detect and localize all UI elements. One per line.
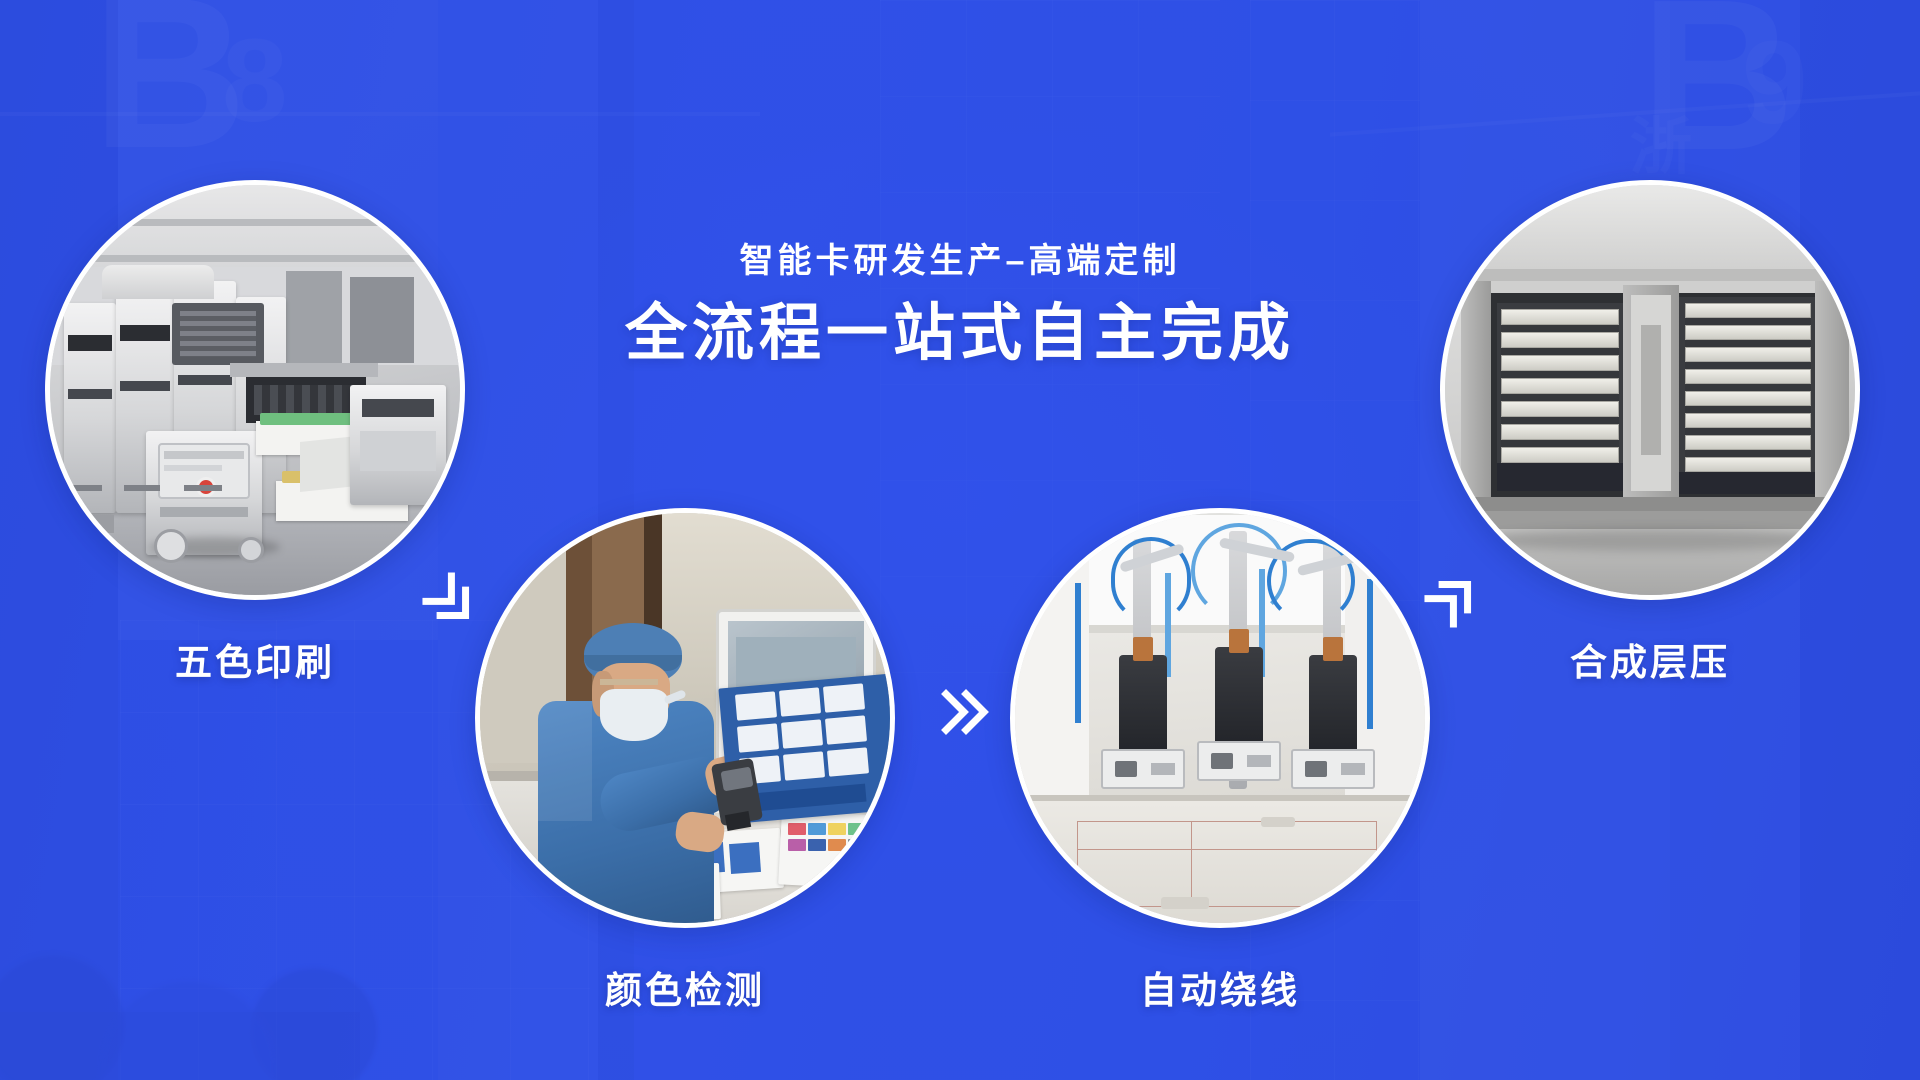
process-step-print-label: 五色印刷: [175, 632, 335, 686]
process-step-lamination[interactable]: 合成层压: [1440, 180, 1860, 600]
double-chevron-icon: [930, 680, 994, 744]
content-layer: 智能卡研发生产–高端定制 全流程一站式自主完成: [0, 0, 1920, 1080]
process-step-color-check-circle: [475, 508, 895, 928]
process-step-auto-winding[interactable]: 自动绕线: [1010, 508, 1430, 928]
process-step-lamination-label: 合成层压: [1570, 632, 1730, 686]
photo-printing-press: [50, 185, 460, 595]
process-step-color-check[interactable]: 颜色检测: [475, 508, 895, 928]
process-step-print-circle: [45, 180, 465, 600]
process-step-color-check-label: 颜色检测: [605, 960, 765, 1014]
photo-color-inspection: [480, 513, 890, 923]
process-step-auto-winding-circle: [1010, 508, 1430, 928]
banner-root: B 8 B 9 浙 智能卡研发生产–高端定制 全流程一站式自主完成: [0, 0, 1920, 1080]
process-step-lamination-circle: [1440, 180, 1860, 600]
process-step-auto-winding-label: 自动绕线: [1140, 960, 1300, 1014]
photo-lamination-press: [1445, 185, 1855, 595]
process-step-print[interactable]: 五色印刷: [45, 180, 465, 600]
photo-winding-machine: [1015, 513, 1425, 923]
